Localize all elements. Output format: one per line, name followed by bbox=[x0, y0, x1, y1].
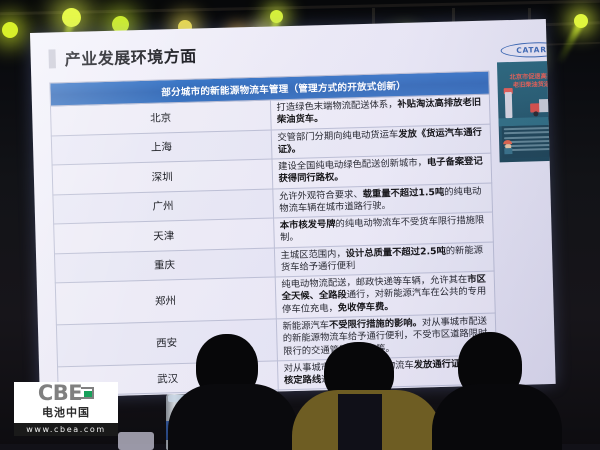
cbea-mark-icon bbox=[81, 387, 94, 399]
audience-silhouette bbox=[432, 332, 562, 450]
title-accent-bar bbox=[48, 49, 56, 68]
policy-cell: 纯电动物流配送，邮政快递等车辆，允许其在市区全天候、全路段通行，对新能源汽车在公… bbox=[275, 271, 496, 319]
stage-light bbox=[2, 22, 18, 38]
slide-title-row: 产业发展环境方面 bbox=[48, 43, 197, 71]
cbea-logo: CBE bbox=[38, 381, 94, 405]
fuel-pump-icon bbox=[505, 92, 513, 118]
audience-silhouette bbox=[168, 334, 298, 450]
inset-poster: 北京市促退高排放 老旧柴油货运车 限期治理 bbox=[497, 60, 556, 162]
cbea-url: www.cbea.com bbox=[14, 423, 118, 436]
worker-figure-icon bbox=[503, 140, 512, 154]
cbea-brand-cn: 电池中国 bbox=[42, 404, 90, 420]
truck-wheel-icon bbox=[533, 111, 538, 116]
cbea-brand-latin: CBE bbox=[38, 381, 82, 405]
ceiling-truss bbox=[0, 0, 600, 15]
stage-light bbox=[270, 10, 283, 23]
stage-light bbox=[574, 14, 588, 28]
paper-cup bbox=[118, 432, 154, 450]
page-title: 产业发展环境方面 bbox=[64, 43, 197, 71]
audience-silhouette bbox=[292, 342, 442, 450]
stage-light bbox=[62, 8, 81, 27]
poster-graphic: 北京市促退高排放 老旧柴油货运车 限期治理 bbox=[497, 60, 556, 162]
cbea-watermark: CBE 电池中国 www.cbea.com bbox=[14, 382, 118, 434]
city-cell: 郑州 bbox=[55, 277, 276, 325]
